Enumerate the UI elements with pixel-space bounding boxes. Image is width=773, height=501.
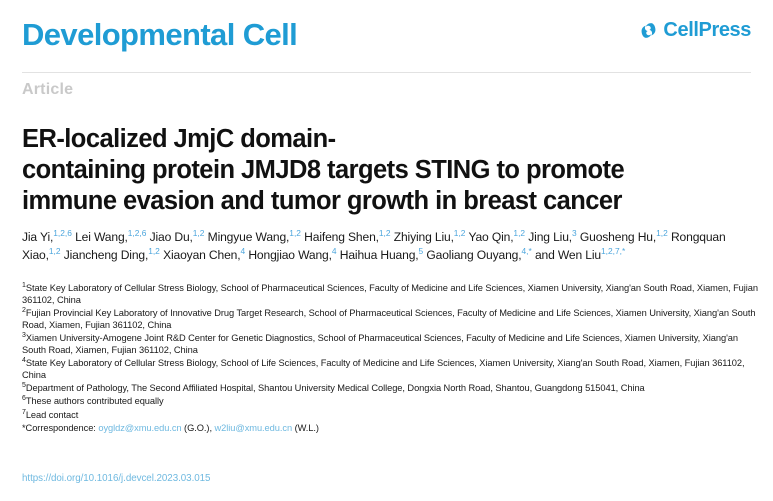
affiliation-item: 6These authors contributed equally xyxy=(22,396,760,408)
cellpress-swirl-icon xyxy=(639,21,658,40)
author-affiliation-marker: 1,2,6 xyxy=(53,228,72,238)
page-title-line: containing protein JMJD8 targets STING t… xyxy=(22,156,624,184)
affiliation-text: These authors contributed equally xyxy=(26,396,164,406)
author-name: Xiaoyan Chen,4 xyxy=(163,248,245,262)
affiliation-text: Lead contact xyxy=(26,410,78,420)
author-affiliation-marker: 1,2,7,* xyxy=(601,246,625,256)
author-affiliation-marker: 1,2 xyxy=(193,228,205,238)
author-name: Jiao Du,1,2 xyxy=(150,230,205,244)
author-name: Lei Wang,1,2,6 xyxy=(75,230,146,244)
affiliation-text: Xiamen University-Amogene Joint R&D Cent… xyxy=(22,333,738,355)
author-name: Hongjiao Wang,4 xyxy=(248,248,336,262)
correspondence-line: *Correspondence: oygldz@xmu.edu.cn (G.O.… xyxy=(22,423,760,435)
author-name: Gaoliang Ouyang,4,* xyxy=(426,248,531,262)
affiliation-item: 3Xiamen University-Amogene Joint R&D Cen… xyxy=(22,333,760,356)
author-name: Mingyue Wang,1,2 xyxy=(208,230,301,244)
page-title-line: ER-localized JmjC domain- xyxy=(22,125,336,153)
author-affiliation-marker: 5 xyxy=(418,246,423,256)
masthead: Developmental Cell CellPress xyxy=(22,16,751,62)
affiliation-text: Department of Pathology, The Second Affi… xyxy=(26,383,645,393)
author-affiliation-marker: 4 xyxy=(332,246,337,256)
page-title: ER-localized JmjC domain-containing prot… xyxy=(22,124,746,217)
author-list: Jia Yi,1,2,6 Lei Wang,1,2,6 Jiao Du,1,2 … xyxy=(22,229,752,264)
author-affiliation-marker: 3 xyxy=(572,228,577,238)
affiliation-item: 1State Key Laboratory of Cellular Stress… xyxy=(22,283,760,306)
author-name: Jing Liu,3 xyxy=(528,230,576,244)
correspondence-email-link[interactable]: w2liu@xmu.edu.cn xyxy=(214,423,292,433)
author-affiliation-marker: 1,2 xyxy=(513,228,525,238)
author-affiliation-marker: 1,2,6 xyxy=(128,228,147,238)
author-name: Yao Qin,1,2 xyxy=(468,230,525,244)
author-name: and Wen Liu1,2,7,* xyxy=(535,248,625,262)
page-title-line: immune evasion and tumor growth in breas… xyxy=(22,187,622,215)
author-affiliation-marker: 1,2 xyxy=(379,228,391,238)
correspondence-email-link[interactable]: oygldz@xmu.edu.cn xyxy=(98,423,181,433)
journal-title: Developmental Cell xyxy=(22,16,297,54)
affiliation-item: 7Lead contact xyxy=(22,410,760,422)
article-type-label: Article xyxy=(22,80,73,100)
correspondence-initials: (G.O.), xyxy=(182,423,212,433)
author-affiliation-marker: 4 xyxy=(240,246,245,256)
doi-link[interactable]: https://doi.org/10.1016/j.devcel.2023.03… xyxy=(22,473,210,485)
author-name: Zhiying Liu,1,2 xyxy=(394,230,466,244)
author-affiliation-marker: 1,2 xyxy=(656,228,668,238)
affiliation-text: State Key Laboratory of Cellular Stress … xyxy=(22,283,758,305)
author-name: Guosheng Hu,1,2 xyxy=(580,230,668,244)
article-header-page: Developmental Cell CellPress Article ER-… xyxy=(0,0,773,501)
author-affiliation-marker: 1,2 xyxy=(454,228,466,238)
author-affiliation-marker: 1,2 xyxy=(289,228,301,238)
affiliation-text: State Key Laboratory of Cellular Stress … xyxy=(22,358,745,380)
author-name: Jiancheng Ding,1,2 xyxy=(64,248,160,262)
author-affiliation-marker: 1,2 xyxy=(148,246,160,256)
cellpress-brand-name: CellPress xyxy=(663,20,751,40)
correspondence-initials: (W.L.) xyxy=(292,423,319,433)
correspondence-label: *Correspondence: xyxy=(22,423,98,433)
author-affiliation-marker: 4,* xyxy=(521,246,531,256)
author-name: Jia Yi,1,2,6 xyxy=(22,230,72,244)
author-name: Haifeng Shen,1,2 xyxy=(304,230,390,244)
affiliation-item: 5Department of Pathology, The Second Aff… xyxy=(22,383,760,395)
affiliation-text: Fujian Provincial Key Laboratory of Inno… xyxy=(22,308,755,330)
author-affiliation-marker: 1,2 xyxy=(49,246,61,256)
author-name: Haihua Huang,5 xyxy=(340,248,423,262)
affiliation-item: 2Fujian Provincial Key Laboratory of Inn… xyxy=(22,308,760,331)
header-divider xyxy=(22,72,751,73)
affiliation-item: 4State Key Laboratory of Cellular Stress… xyxy=(22,358,760,381)
cellpress-brand[interactable]: CellPress xyxy=(639,20,751,40)
affiliation-list: 1State Key Laboratory of Cellular Stress… xyxy=(22,283,760,436)
